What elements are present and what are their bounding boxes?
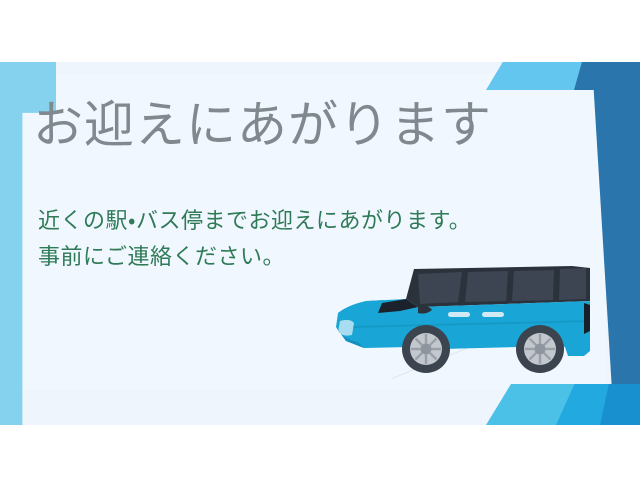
page-title: お迎えにあがります: [33, 96, 492, 155]
banner-image: お迎えにあがります 近くの駅・バス停までお迎えにあがります。 事前にご連絡くださ…: [0, 0, 640, 480]
description-line-1: 近くの駅・バス停までお迎えにあがります。: [38, 204, 471, 240]
minivan-illustration: [322, 255, 612, 385]
minivan-icon: [322, 255, 612, 385]
